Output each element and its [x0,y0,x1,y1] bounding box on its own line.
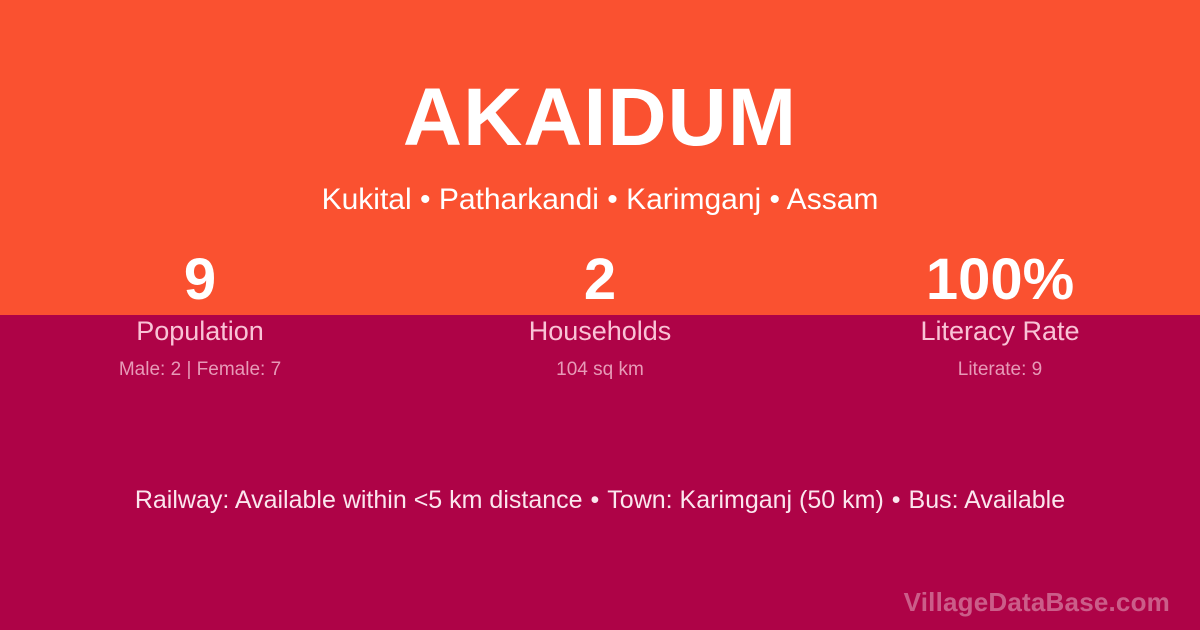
stat-literacy-detail: Literate: 9 [800,360,1200,381]
stat-households-label: Households [400,317,800,347]
stat-literacy-value: 100% [800,248,1200,315]
stat-households: 2 Households 104 sq km [400,248,800,381]
stat-literacy: 100% Literacy Rate Literate: 9 [800,248,1200,381]
infra-bus: Bus: Available [909,486,1066,514]
stat-population-value: 9 [0,248,400,315]
infra-separator-1: • [583,486,608,514]
stats-row: 9 Population Male: 2 | Female: 7 2 House… [0,248,1200,381]
stat-population-label: Population [0,317,400,347]
infrastructure-line: Railway: Available within <5 km distance… [0,485,1200,515]
village-info-card: AKAIDUM Kukital • Patharkandi • Karimgan… [0,0,1200,630]
stat-households-value: 2 [400,248,800,315]
infra-railway: Railway: Available within <5 km distance [135,486,583,514]
stat-households-detail: 104 sq km [400,360,800,381]
stat-population-detail: Male: 2 | Female: 7 [0,360,400,381]
site-watermark: VillageDataBase.com [904,587,1170,618]
stat-population: 9 Population Male: 2 | Female: 7 [0,248,400,381]
infra-town: Town: Karimganj (50 km) [607,486,883,514]
breadcrumb-location: Kukital • Patharkandi • Karimganj • Assa… [0,182,1200,218]
page-title: AKAIDUM [0,77,1200,159]
stat-literacy-label: Literacy Rate [800,317,1200,347]
infra-separator-2: • [884,486,909,514]
